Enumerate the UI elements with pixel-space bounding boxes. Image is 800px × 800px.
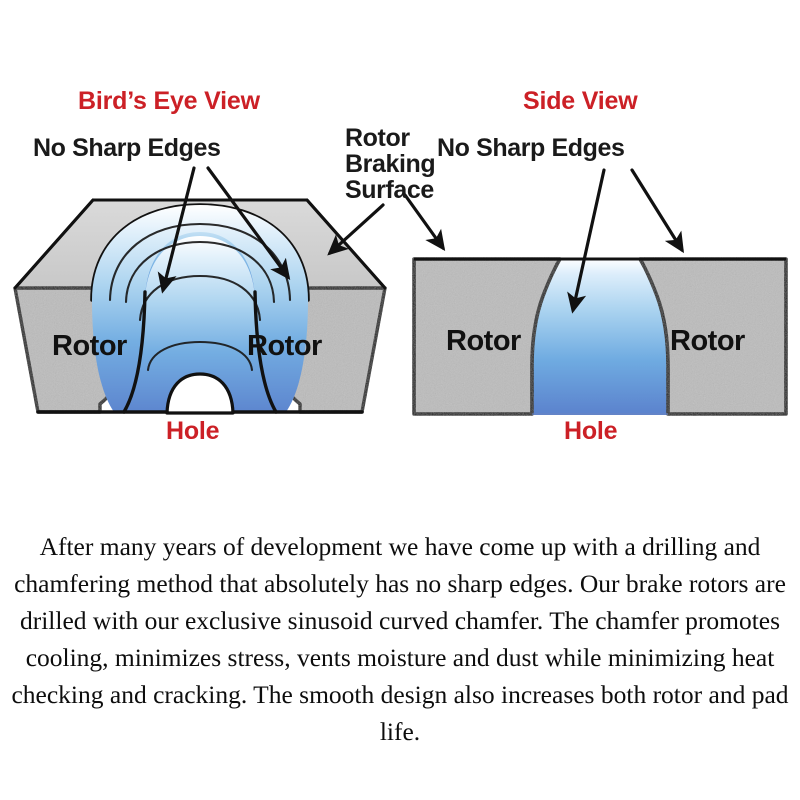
sideview-no-sharp-edges-label: No Sharp Edges (437, 135, 625, 161)
birdseye-rotor-right-label: Rotor (247, 330, 322, 363)
sideview-title: Side View (523, 88, 637, 114)
sv-arrow-nosharp-right (632, 170, 682, 250)
sideview-rotor-right-label: Rotor (670, 325, 745, 358)
diagram-canvas: Bird’s Eye View No Sharp Edges Rotor Bra… (0, 0, 800, 800)
be-arrow-braking (330, 205, 383, 253)
description-paragraph: After many years of development we have … (0, 528, 800, 750)
birdseye-block (15, 200, 385, 413)
birdseye-rotor-braking-surface-label: Rotor Braking Surface (345, 126, 435, 203)
birdseye-no-sharp-edges-label: No Sharp Edges (33, 135, 221, 161)
sideview-rotor-left-label: Rotor (446, 325, 521, 358)
birdseye-hole-label: Hole (166, 418, 219, 444)
sideview-hole-label: Hole (564, 418, 617, 444)
birdseye-rotor-left-label: Rotor (52, 330, 127, 363)
birdseye-view-title: Bird’s Eye View (78, 88, 260, 114)
